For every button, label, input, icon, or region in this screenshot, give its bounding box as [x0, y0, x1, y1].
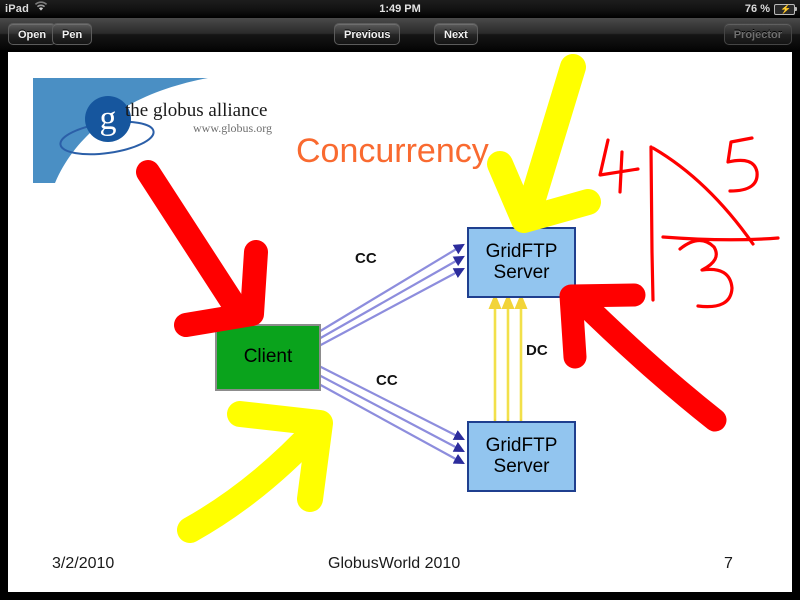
cc-link-top-server [317, 245, 463, 347]
edge-label-cc-top: CC [355, 250, 377, 267]
node-client[interactable]: Client [215, 324, 321, 391]
node-gridftp-server-top-label: GridFTP Server [486, 242, 558, 283]
lightning-bolt-icon: ⚡ [780, 5, 791, 14]
ipad-presentation-app: iPad 1:49 PM 76 % ⚡ Open Pen Previous Ne… [0, 0, 800, 600]
next-slide-button[interactable]: Next [434, 23, 478, 45]
node-gridftp-server-top-line1: GridFTP [486, 241, 558, 262]
node-gridftp-server-bottom-label: GridFTP Server [486, 436, 558, 477]
footer-event-name: GlobusWorld 2010 [328, 555, 460, 573]
status-bar: iPad 1:49 PM 76 % ⚡ [0, 0, 800, 18]
previous-slide-button[interactable]: Previous [334, 23, 400, 45]
pen-button[interactable]: Pen [52, 23, 92, 45]
footer-page-number: 7 [724, 555, 733, 573]
open-button[interactable]: Open [8, 23, 56, 45]
projector-button: Projector [724, 23, 792, 45]
dc-link [495, 296, 521, 421]
node-gridftp-server-top-line2: Server [494, 262, 550, 283]
node-gridftp-server-bottom[interactable]: GridFTP Server [467, 421, 576, 492]
node-client-label: Client [244, 347, 293, 368]
node-gridftp-server-bottom-line2: Server [494, 456, 550, 477]
toolbar: Open Pen Previous Next Projector [0, 18, 800, 51]
node-gridftp-server-bottom-line1: GridFTP [486, 435, 558, 456]
edge-label-dc: DC [526, 342, 548, 359]
status-bar-right: 76 % ⚡ [745, 0, 795, 18]
edge-label-cc-bottom: CC [376, 372, 398, 389]
node-gridftp-server-top[interactable]: GridFTP Server [467, 227, 576, 298]
diagram-connectors [8, 52, 792, 592]
clock-label: 1:49 PM [0, 0, 800, 18]
footer-date: 3/2/2010 [52, 555, 114, 573]
battery-charging-icon: ⚡ [774, 4, 795, 15]
slide-canvas[interactable]: g the globus alliance www.globus.org Con… [8, 52, 792, 592]
battery-percent-label: 76 % [745, 0, 770, 18]
